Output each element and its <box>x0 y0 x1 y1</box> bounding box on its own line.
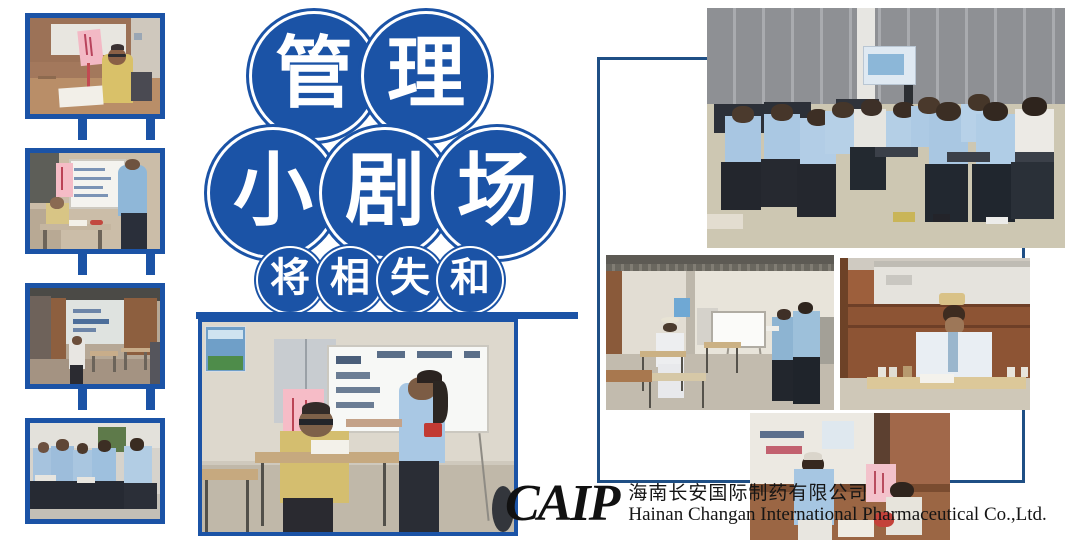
poster-canvas: 管 理 小 剧 场 将 相 失 <box>0 0 1080 540</box>
left-connector-4 <box>146 253 155 275</box>
title-cluster: 管 理 小 剧 场 将 相 失 <box>196 8 578 320</box>
subtitle-bubble-he: 和 <box>438 248 502 312</box>
photo-center-bottom[interactable] <box>198 318 518 536</box>
subtitle-bubble-shi: 失 <box>378 248 442 312</box>
title-bubble-xiao: 小 <box>210 130 336 256</box>
subtitle-bubble-xiang: 相 <box>318 248 382 312</box>
logo-company-en: Hainan Changan International Pharmaceuti… <box>628 504 1046 526</box>
photo-right-top[interactable] <box>707 8 1065 248</box>
logo-company-text: 海南长安国际制药有限公司 Hainan Changan Internationa… <box>628 482 1046 527</box>
company-logo: CAIP 海南长安国际制药有限公司 Hainan Changan Interna… <box>505 478 1047 530</box>
photo-left-2-scene <box>30 153 160 249</box>
photo-right-top-scene <box>707 8 1065 248</box>
photo-left-3[interactable] <box>25 283 165 389</box>
photo-left-4-scene <box>30 423 160 519</box>
subtitle-bubble-jiang: 将 <box>258 248 322 312</box>
photo-left-2[interactable] <box>25 148 165 254</box>
left-connector-6 <box>146 388 155 410</box>
photo-left-1-scene <box>30 18 160 114</box>
title-bubble-chang: 场 <box>434 130 560 256</box>
title-bubble-ju: 剧 <box>322 130 448 256</box>
photo-center-bottom-scene <box>202 322 514 532</box>
left-connector-1 <box>78 118 87 140</box>
title-bubble-guan: 管 <box>252 14 376 138</box>
logo-mark-caip: CAIP <box>505 478 618 530</box>
title-bubble-li: 理 <box>364 14 488 138</box>
photo-right-mid-right-scene <box>840 258 1030 410</box>
left-connector-3 <box>78 253 87 275</box>
photo-left-3-scene <box>30 288 160 384</box>
photo-left-1[interactable] <box>25 13 165 119</box>
left-connector-5 <box>78 388 87 410</box>
logo-company-cn: 海南长安国际制药有限公司 <box>628 482 1046 504</box>
photo-right-mid-left[interactable] <box>606 255 834 410</box>
left-connector-2 <box>146 118 155 140</box>
photo-right-mid-right[interactable] <box>840 258 1030 410</box>
photo-right-mid-left-scene <box>606 255 834 410</box>
photo-left-4[interactable] <box>25 418 165 524</box>
